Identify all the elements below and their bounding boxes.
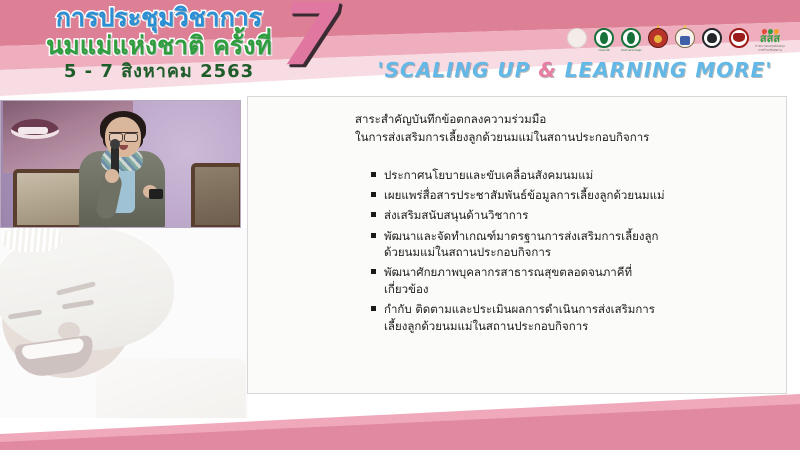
ministry-public-health-logo: กรมอนามัย [593,27,615,53]
department-label: กระทรวงสาธารณสุข [620,48,642,53]
square-bullet-icon [371,172,376,177]
lead-line-1: สาระสำคัญบันทึกข้อตกลงความร่วมมือ [355,111,775,129]
speaker-glasses-icon [109,132,138,139]
content-panel-inner: สาระสำคัญบันทึกข้อตกลงความร่วมมือ ในการส… [248,97,786,393]
poster-lips-detail [11,119,59,139]
department-health-logo: กระทรวงสาธารณสุข [620,27,642,53]
list-item: พัฒนาศักยภาพบุคลากรสาธารณสุขตลอดจนภาคีที… [371,264,771,297]
conference-title-block: การประชุมวิชาการ นมแม่แห่งชาติ ครั้งที่ … [14,5,304,82]
list-item: ส่งเสริมสนับสนุนด้านวิชาการ [371,207,771,224]
child-watermark-image [0,228,248,418]
list-item: เผยแพร่สื่อสารประชาสัมพันธ์ข้อมูลการเลี้… [371,187,771,204]
conference-title-line2: นมแม่แห่งชาติ ครั้งที่ [14,32,304,59]
royal-garuda-emblem-logo [674,27,696,53]
slogan-ampersand: & [538,58,556,82]
royal-seal-logo [566,27,588,53]
bullet-line-continued: เลี้ยงลูกด้วยนมแม่ในสถานประกอบกิจการ [384,318,771,335]
ministry-emblem [600,32,608,44]
bullet-line: เผยแพร่สื่อสารประชาสัมพันธ์ข้อมูลการเลี้… [384,188,665,202]
red-crest-emblem [733,33,745,42]
bullet-line-continued: เกี่ยวข้อง [384,281,771,298]
crown-center [654,35,662,43]
slogan-suffix-text: LEARNING MORE' [557,58,773,82]
lead-paragraph: สาระสำคัญบันทึกข้อตกลงความร่วมมือ ในการส… [355,111,775,147]
presentation-slide: การประชุมวิชาการ นมแม่แห่งชาติ ครั้งที่ … [0,0,800,450]
royal-seal-label [566,48,588,53]
royal-seal-disc [567,28,587,48]
thaihealth-word: สสส [755,33,785,44]
bullet-line: ประกาศนโยบายและขับเคลื่อนสังคมนมแม่ [384,168,593,182]
thaihealth-sss-logo: สสส สำนักงานกองทุนสนับสนุนการสร้างเสริมส… [755,27,785,53]
sponsor-logo-strip: กรมอนามัย กระทรวงสาธารณสุข [566,27,785,53]
garuda-center [680,36,690,45]
bullet-list: ประกาศนโยบายและขับเคลื่อนสังคมนมแม่ เผยแ… [371,167,771,338]
bullet-line: กำกับ ติดตามและประเมินผลการดำเนินการส่งเ… [384,302,655,316]
bullet-line: พัฒนาศักยภาพบุคลากรสาธารณสุขตลอดจนภาคีที… [384,265,632,279]
content-panel: สาระสำคัญบันทึกข้อตกลงความร่วมมือ ในการส… [247,96,787,394]
lead-line-2: ในการส่งเสริมการเลี้ยงลูกด้วยนมแม่ในสถาน… [355,129,775,147]
list-item: พัฒนาและจัดทำเกณฑ์มาตรฐานการส่งเสริมการเ… [371,228,771,261]
conference-date: 5 - 7 สิงหาคม 2563 [14,62,304,82]
slide-header-banner: การประชุมวิชาการ นมแม่แห่งชาติ ครั้งที่ … [0,0,800,96]
slogan-prefix-text: 'SCALING UP [378,58,539,82]
chair-right [191,163,241,228]
list-item: กำกับ ติดตามและประเมินผลการดำเนินการส่งเ… [371,301,771,334]
child-hat [0,228,174,350]
bottom-pink-diagonal-band [0,394,800,450]
presentation-clicker-icon [149,189,163,199]
square-bullet-icon [371,212,376,217]
speaker-video-still [0,100,241,228]
thaihealth-subtitle: สำนักงานกองทุนสนับสนุนการสร้างเสริมสุขภา… [755,44,785,52]
bullet-line: ส่งเสริมสนับสนุนด้านวิชาการ [384,208,528,222]
ministry-label: กรมอนามัย [593,48,615,53]
speaker-hand-holding-mic [105,169,119,183]
list-item: ประกาศนโยบายและขับเคลื่อนสังคมนมแม่ [371,167,771,184]
department-emblem [627,32,635,44]
red-crest-logo [728,27,750,53]
square-bullet-icon [371,192,376,197]
bullet-line-continued: ด้วยนมแม่ในสถานประกอบกิจการ [384,244,771,261]
bullet-line: พัฒนาและจัดทำเกณฑ์มาตรฐานการส่งเสริมการเ… [384,229,659,243]
conference-slogan: 'SCALING UP & LEARNING MORE' [360,58,790,82]
square-bullet-icon [371,233,376,238]
edition-number-7: 7 [280,0,338,78]
conference-title-line1: การประชุมวิชาการ [14,5,304,31]
nursing-emblem [707,33,717,43]
royal-crown-emblem-logo [647,27,669,53]
nursing-council-logo [701,27,723,53]
square-bullet-icon [371,306,376,311]
square-bullet-icon [371,269,376,274]
